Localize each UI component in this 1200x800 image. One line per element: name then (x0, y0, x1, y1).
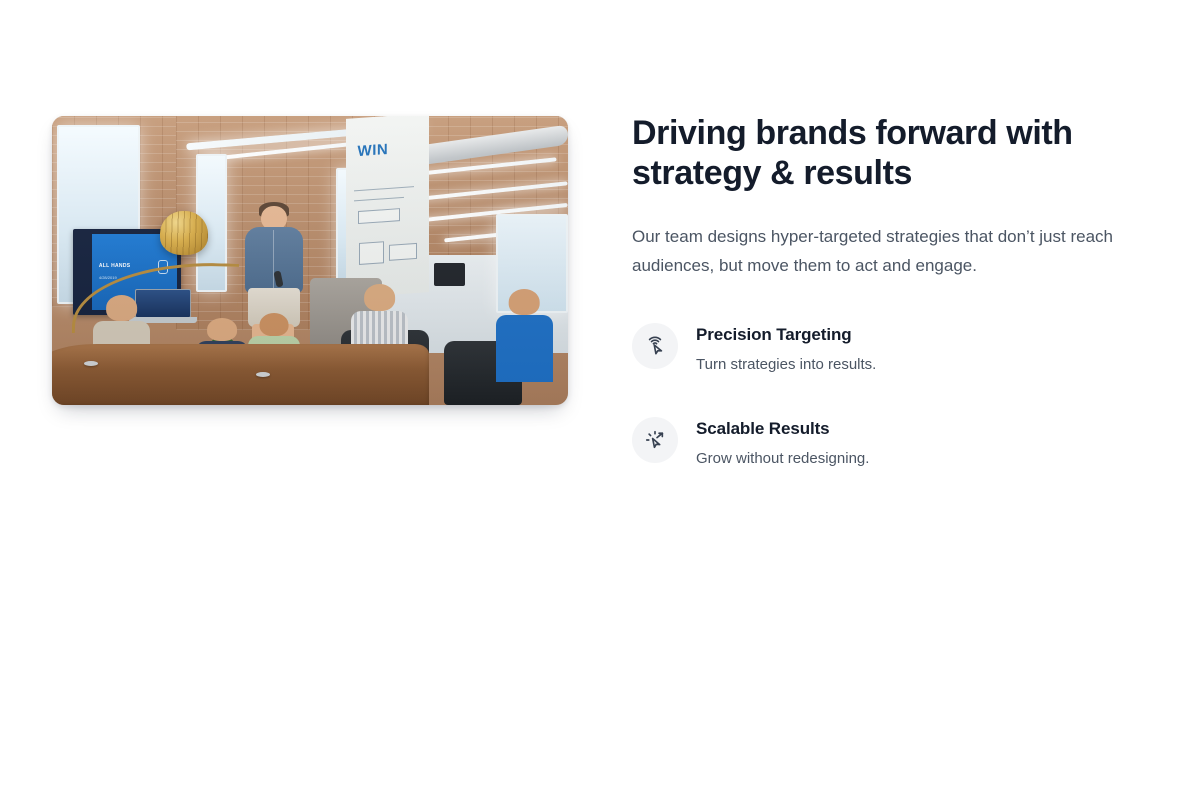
feature-title: Scalable Results (696, 418, 869, 440)
hero-image-frame: WIN ALL HANDS 4/28/2019 (52, 116, 568, 405)
photo-attendee-5 (496, 289, 553, 381)
section-subheading: Our team designs hyper-targeted strategi… (632, 222, 1148, 280)
photo-mural-box-2 (359, 242, 384, 265)
photo-attendee-3-head (259, 313, 288, 337)
feature-item-scalable-results: Scalable Results Grow without redesignin… (632, 416, 1152, 469)
feature-icon-badge (632, 417, 678, 463)
photo-wall-mural: WIN (346, 116, 429, 298)
cursor-arrow-rays-growth-icon (644, 429, 666, 451)
feature-item-precision-targeting: Precision Targeting Turn strategies into… (632, 322, 1152, 375)
photo-table-puck-1 (84, 361, 98, 366)
photo-attendee-5-head (509, 289, 540, 315)
photo-attendee-5-body (496, 315, 553, 382)
marketing-hero-section: WIN ALL HANDS 4/28/2019 (0, 0, 1200, 800)
feature-description: Grow without redesigning. (696, 448, 869, 469)
photo-mural-box-3 (389, 243, 417, 261)
office-allhands-photo: WIN ALL HANDS 4/28/2019 (52, 116, 568, 405)
photo-mural-line-2 (354, 197, 404, 201)
photo-mural-box-1 (358, 208, 401, 224)
feature-icon-badge (632, 323, 678, 369)
content-column: Driving brands forward with strategy & r… (632, 113, 1152, 469)
photo-attendee-4-head (364, 284, 396, 312)
feature-title: Precision Targeting (696, 324, 876, 346)
feature-description: Turn strategies into results. (696, 354, 876, 375)
feature-list: Precision Targeting Turn strategies into… (632, 322, 1152, 469)
photo-attendee-2-head (207, 318, 237, 341)
photo-mural-line-1 (354, 186, 413, 191)
photo-slide-title: ALL HANDS (99, 263, 131, 269)
photo-mural-word: WIN (358, 141, 389, 160)
feature-text: Precision Targeting Turn strategies into… (696, 322, 876, 375)
cursor-click-icon (644, 335, 666, 357)
photo-table-puck-2 (256, 372, 270, 377)
section-heading: Driving brands forward with strategy & r… (632, 113, 1112, 193)
photo-conference-table (52, 344, 429, 405)
photo-gold-pendant-lamp (160, 211, 208, 255)
feature-text: Scalable Results Grow without redesignin… (696, 416, 869, 469)
photo-attendee-1-head (106, 295, 138, 321)
photo-presenter-shirt (245, 227, 303, 293)
photo-monitor-2 (434, 263, 465, 286)
media-column: WIN ALL HANDS 4/28/2019 (52, 116, 568, 405)
